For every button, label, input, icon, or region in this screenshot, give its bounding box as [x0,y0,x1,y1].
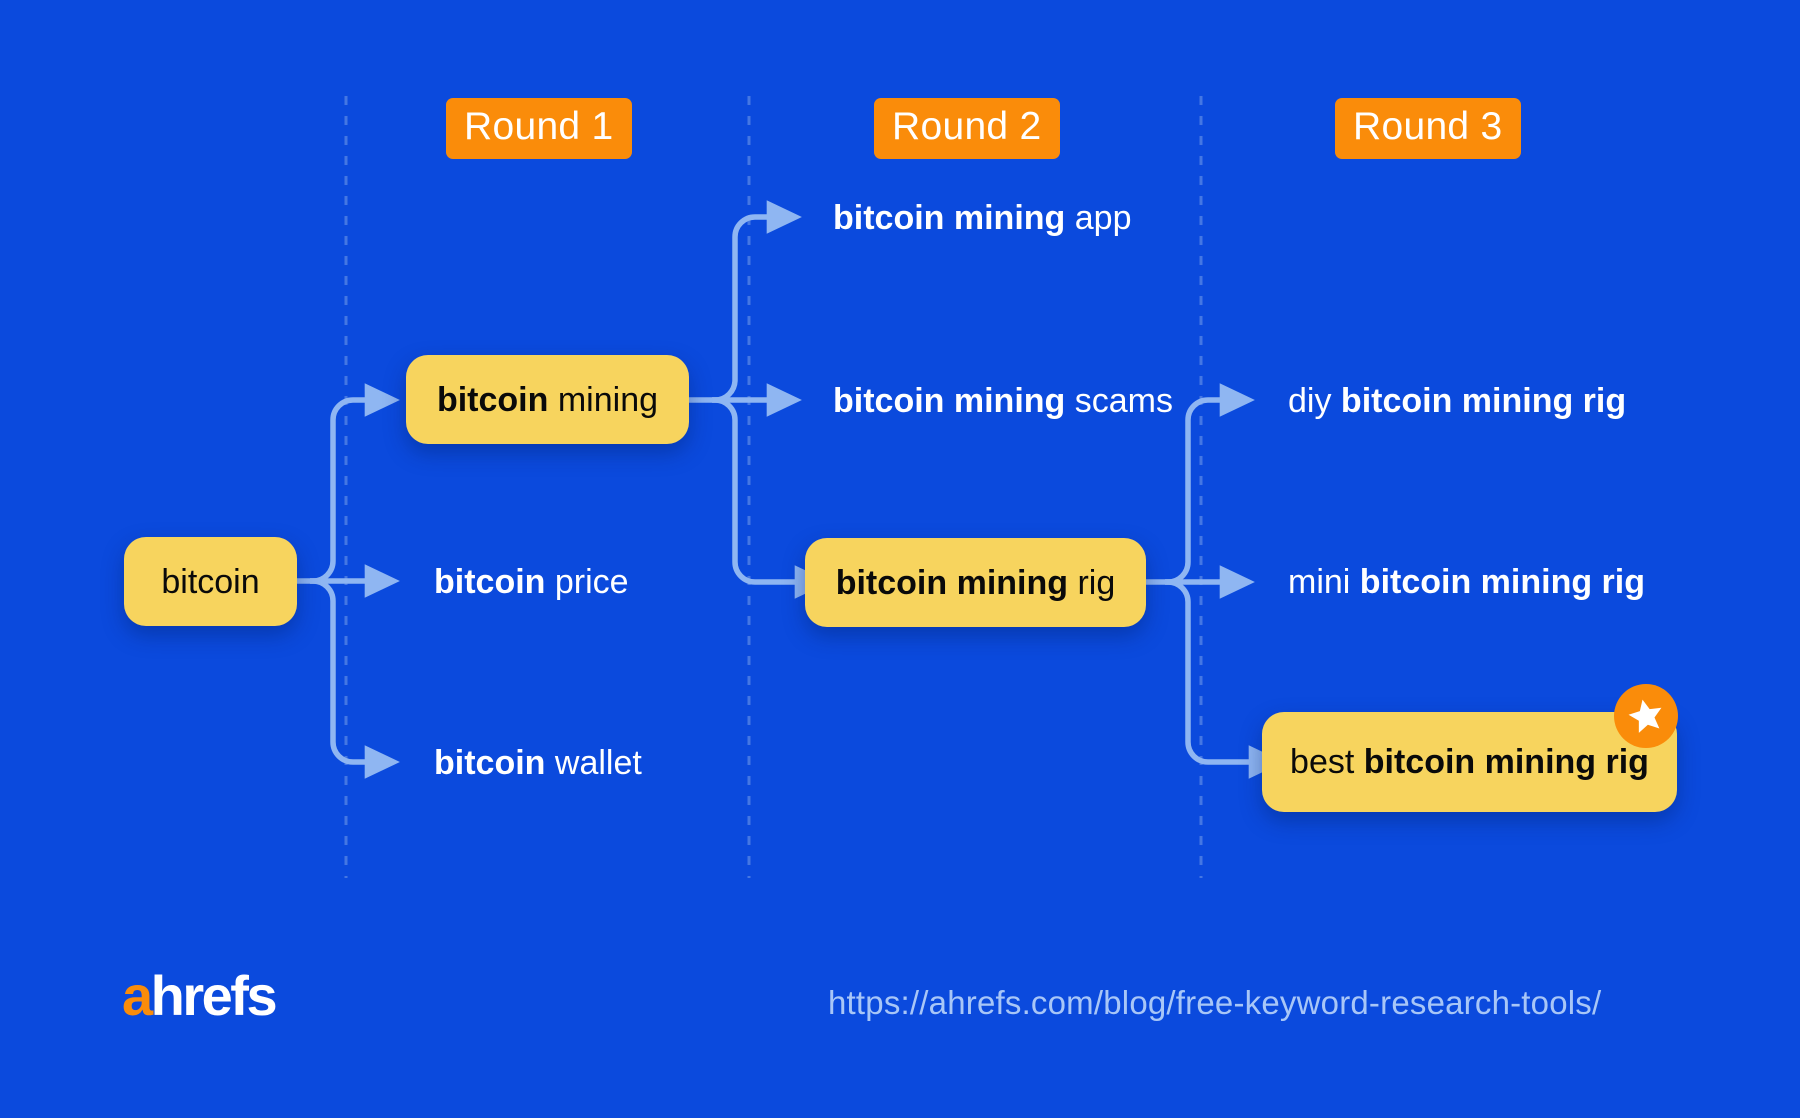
connector-seed-to-mining [310,400,368,581]
round1-node-bitcoin-wallet[interactable]: bitcoin wallet [434,746,642,780]
ahrefs-logo: ahrefs [122,968,275,1024]
round1-node-bitcoin-mining[interactable]: bitcoin mining [406,355,689,444]
keyword-expansion-diagram: Round 1 Round 2 Round 3 bitcoin bitcoin … [0,0,1800,1118]
logo-wordmark: hrefs [151,964,275,1027]
source-url[interactable]: https://ahrefs.com/blog/free-keyword-res… [828,986,1601,1019]
round2-node-bitcoin-mining-scams[interactable]: bitcoin mining scams [833,384,1173,418]
round2-node-bitcoin-mining-rig-label: bitcoin mining rig [836,566,1116,600]
round3-node-best-bitcoin-mining-rig-label: best bitcoin mining rig [1290,745,1649,779]
connector-seed-to-wallet [310,581,368,762]
connector-mining-to-app [712,217,770,400]
star-icon [1614,684,1678,748]
round1-node-bitcoin-price[interactable]: bitcoin price [434,565,629,599]
connector-mining-to-rig [712,400,798,582]
connector-rig-to-diy [1165,400,1223,582]
round-2-header: Round 2 [874,98,1060,159]
round2-node-bitcoin-mining-rig[interactable]: bitcoin mining rig [805,538,1146,627]
seed-keyword-label: bitcoin [161,565,259,599]
round2-node-bitcoin-mining-app[interactable]: bitcoin mining app [833,201,1132,235]
round-1-header: Round 1 [446,98,632,159]
logo-accent-letter: a [122,964,151,1027]
round-3-header: Round 3 [1335,98,1521,159]
round3-node-best-bitcoin-mining-rig[interactable]: best bitcoin mining rig [1262,712,1677,812]
round1-node-bitcoin-mining-label: bitcoin mining [437,383,658,417]
connector-rig-to-best [1165,582,1252,762]
round3-node-diy-bitcoin-mining-rig[interactable]: diy bitcoin mining rig [1288,384,1626,418]
seed-keyword-bitcoin[interactable]: bitcoin [124,537,297,626]
round3-node-mini-bitcoin-mining-rig[interactable]: mini bitcoin mining rig [1288,565,1645,599]
